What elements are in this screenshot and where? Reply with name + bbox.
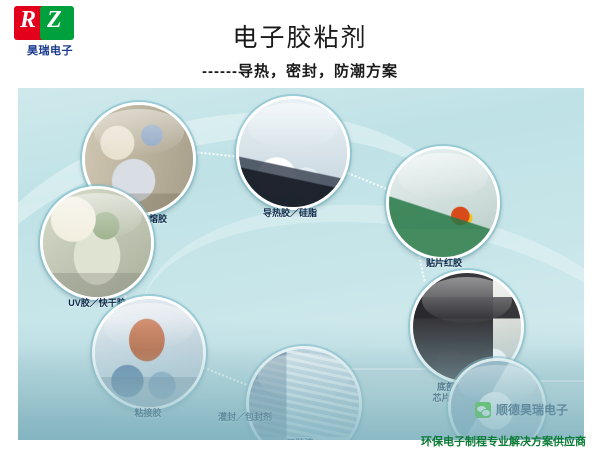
node-thermal-image[interactable] [236,96,350,210]
caption-potting: 灌封／包封剂 [200,412,290,423]
node-conformal-image[interactable] [448,358,546,440]
bubble-gloss [458,365,535,404]
node-uv-image[interactable] [40,186,154,300]
node-underfill-image[interactable] [410,270,524,384]
page-title: 电子胶粘剂 [0,18,600,54]
caption-underfill: 底部填充剂／ 芯片周边固定剂 [416,382,512,404]
caption-smt-red: 贴片红胶 [408,258,480,269]
wechat-icon [475,402,491,418]
connector-underfill-conformal [436,320,469,379]
page-subtitle: ------导热，密封，防潮方案 [202,60,398,81]
node-smt-red-image[interactable] [386,146,500,260]
caption-thermal: 导热胶／硅脂 [254,208,326,219]
diagram-panel: RTV／热熔胶 导热胶／硅脂 UV胶／快干胶 贴片红胶 [18,88,584,440]
node-potting-image[interactable] [246,346,362,440]
connector-bonding-potting [177,356,246,386]
slide: R Z 昊瑞电子 电子胶粘剂 ------导热，密封，防潮方案 [0,0,600,452]
wechat-badge[interactable]: 顺德昊瑞电子 [475,401,568,418]
footer-slogan: 环保电子制程专业解决方案供应商 [421,433,586,449]
building-block-3 [258,392,344,440]
node-bonding-image[interactable] [92,296,206,410]
building-block-1 [348,368,468,440]
bubble-gloss [258,353,350,399]
wechat-account-name: 顺德昊瑞电子 [496,401,568,418]
caption-bonding: 粘接胶 [118,408,178,419]
background-building [18,345,584,440]
building-block-2 [470,380,584,440]
caption-conformal: 三防漆 [270,438,330,440]
